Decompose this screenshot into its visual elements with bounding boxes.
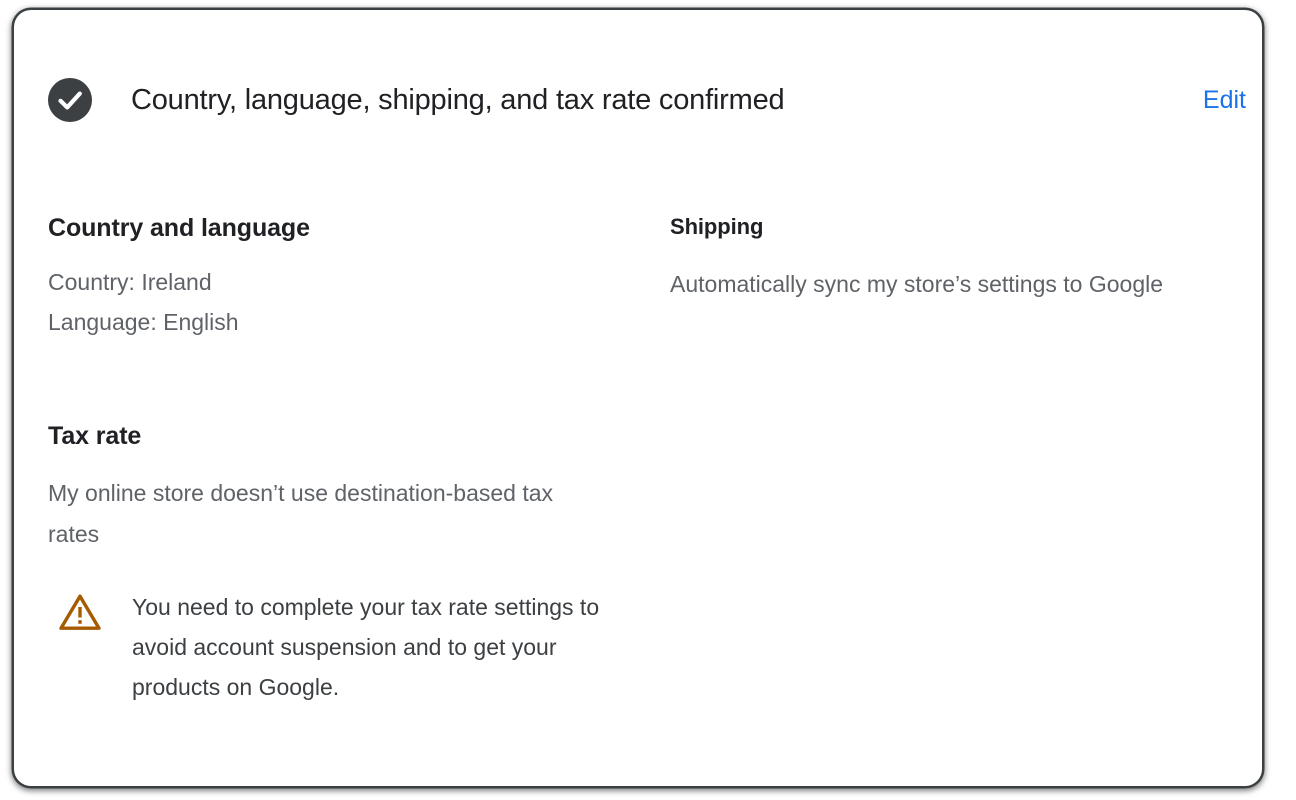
country-language-details: Country: Ireland Language: English [48,262,310,342]
shipping-section: Shipping Automatically sync my store’s s… [670,210,1210,305]
tax-rate-heading: Tax rate [48,419,588,453]
language-value: Language: English [48,302,310,342]
warning-triangle-icon [59,593,101,631]
country-language-heading: Country and language [48,211,310,245]
country-value: Country: Ireland [48,262,310,302]
tax-rate-warning: You need to complete your tax rate setti… [48,587,588,707]
edit-button[interactable]: Edit [1203,80,1246,120]
shipping-heading: Shipping [670,210,1210,244]
tax-rate-section: Tax rate My online store doesn’t use des… [48,419,588,555]
confirmation-card: Country, language, shipping, and tax rat… [14,10,1262,786]
country-language-section: Country and language Country: Ireland La… [48,211,310,342]
check-circle-filled-icon [48,78,92,122]
card-header: Country, language, shipping, and tax rat… [14,10,1262,160]
page-title: Country, language, shipping, and tax rat… [131,78,784,122]
tax-rate-value: My online store doesn’t use destination-… [48,473,588,555]
shipping-value: Automatically sync my store’s settings t… [670,264,1210,305]
page-background: Country, language, shipping, and tax rat… [0,0,1296,800]
warning-message: You need to complete your tax rate setti… [48,587,602,707]
